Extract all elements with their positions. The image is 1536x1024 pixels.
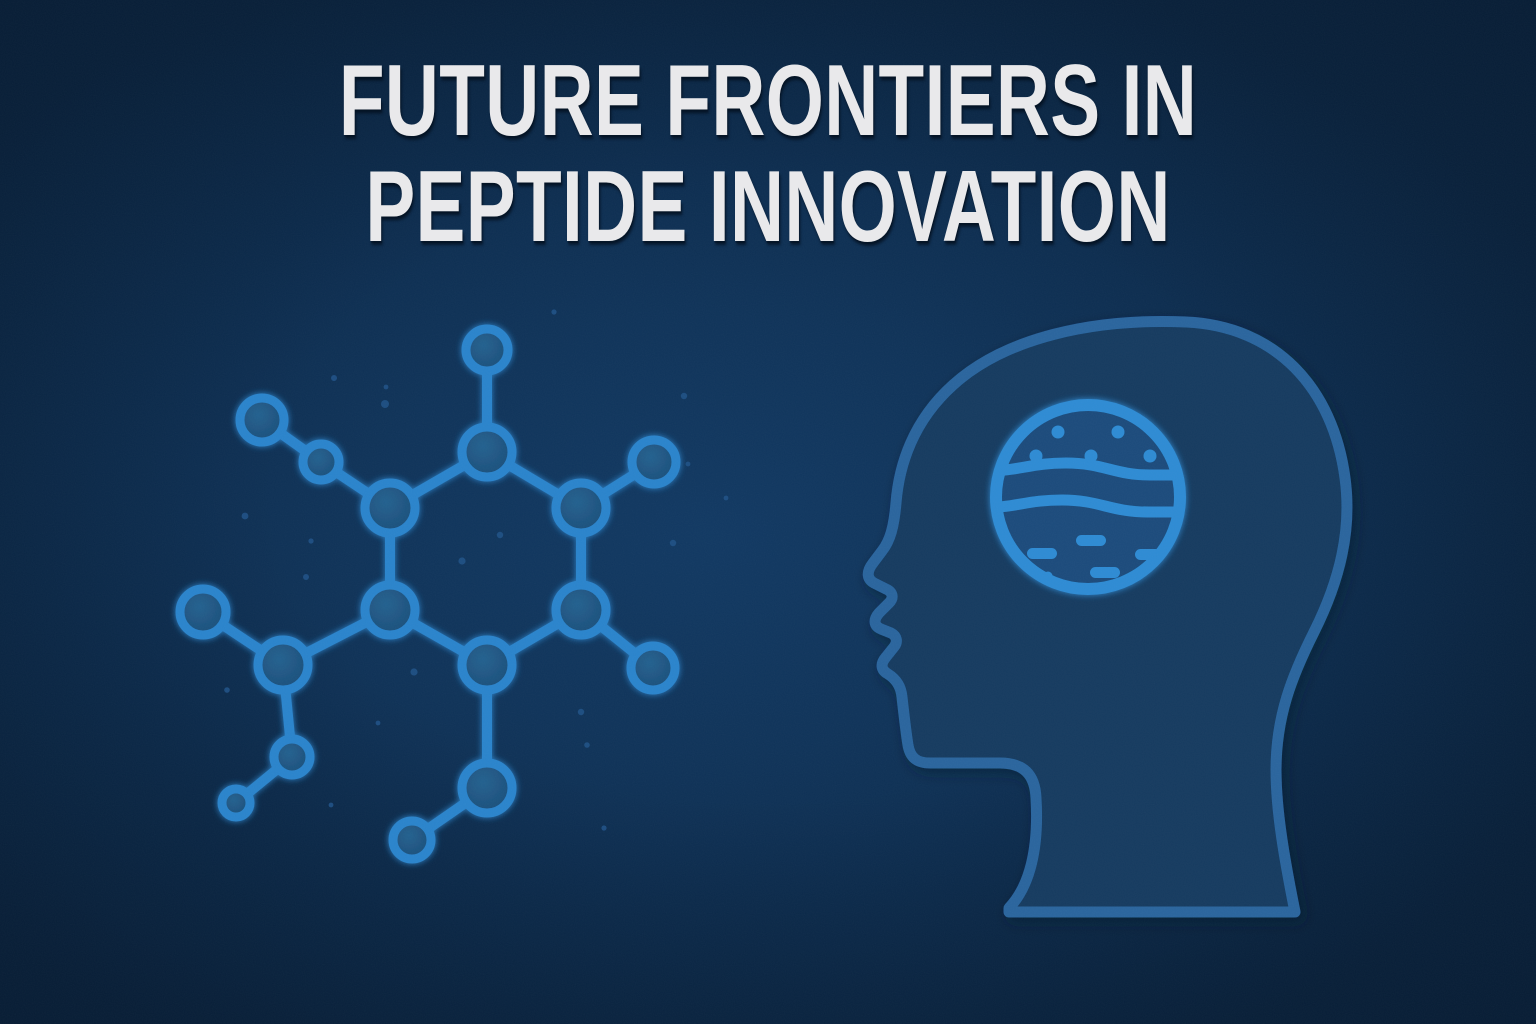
title-line-1: FUTURE FRONTIERS IN — [200, 54, 1337, 150]
poster-canvas: FUTURE FRONTIERS IN PEPTIDE INNOVATION — [0, 0, 1536, 1024]
title-line-2: PEPTIDE INNOVATION — [200, 160, 1337, 256]
page-title: FUTURE FRONTIERS IN PEPTIDE INNOVATION — [0, 54, 1536, 256]
